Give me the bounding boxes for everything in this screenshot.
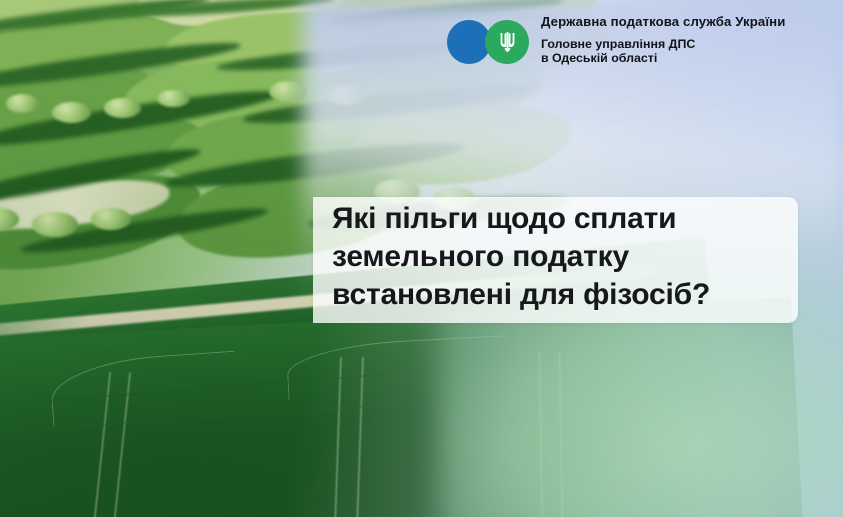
headline-line-2: земельного податку [332, 238, 802, 276]
trident-icon [499, 30, 516, 54]
headline-line-3: встановлені для фізосіб? [332, 276, 802, 314]
logo-marks [447, 13, 533, 67]
organisation-subtitle: Головне управління ДПС в Одеській област… [541, 37, 785, 66]
organisation-logo-block: Державна податкова служба України Головн… [447, 13, 785, 67]
organisation-text: Державна податкова служба України Головн… [533, 13, 785, 66]
organisation-subtitle-line-1: Головне управління ДПС [541, 37, 785, 52]
headline-line-1: Які пільги щодо сплати [332, 200, 802, 238]
organisation-title: Державна податкова служба України [541, 15, 785, 30]
info-card: Державна податкова служба України Головн… [0, 0, 843, 517]
organisation-subtitle-line-2: в Одеській області [541, 51, 785, 66]
headline: Які пільги щодо сплати земельного податк… [332, 200, 802, 314]
